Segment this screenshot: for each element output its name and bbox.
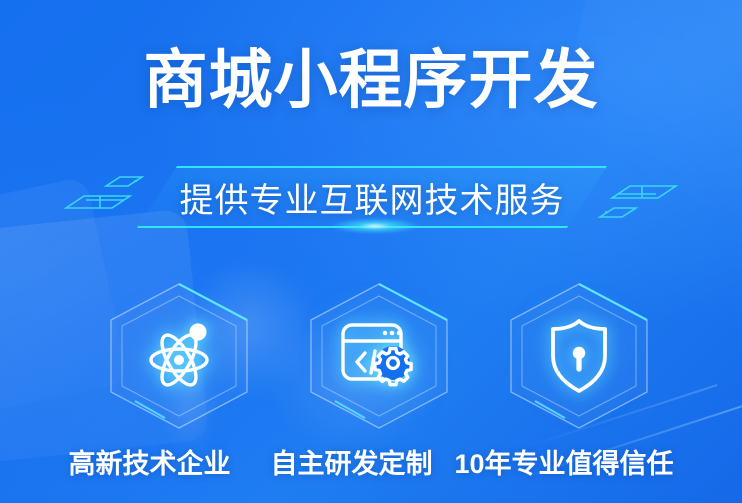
page-title: 商城小程序开发: [0, 47, 742, 114]
feature-label-1: 高新技术企业: [68, 442, 230, 481]
atom-icon: [105, 281, 253, 431]
feature-label-2: 自主研发定制: [270, 442, 432, 481]
code-window-gear-icon: [305, 281, 453, 431]
feature-hexagon-1[interactable]: [105, 281, 253, 431]
feature-label-row: 高新技术企业 自主研发定制 10年专业值得信任: [0, 440, 742, 482]
shield-lock-icon: [505, 281, 653, 431]
feature-icon-row: [0, 281, 742, 431]
promo-banner: 商城小程序开发 提供专业互联网技术服务: [0, 0, 742, 503]
feature-hexagon-3[interactable]: [505, 281, 653, 431]
banner-glow-flare: [330, 218, 420, 234]
right-decoration-icon: [570, 174, 680, 220]
feature-hexagon-2[interactable]: [305, 281, 453, 431]
subtitle-banner: 提供专业互联网技术服务: [0, 166, 742, 236]
feature-label-3: 10年专业值得信任: [454, 442, 673, 481]
